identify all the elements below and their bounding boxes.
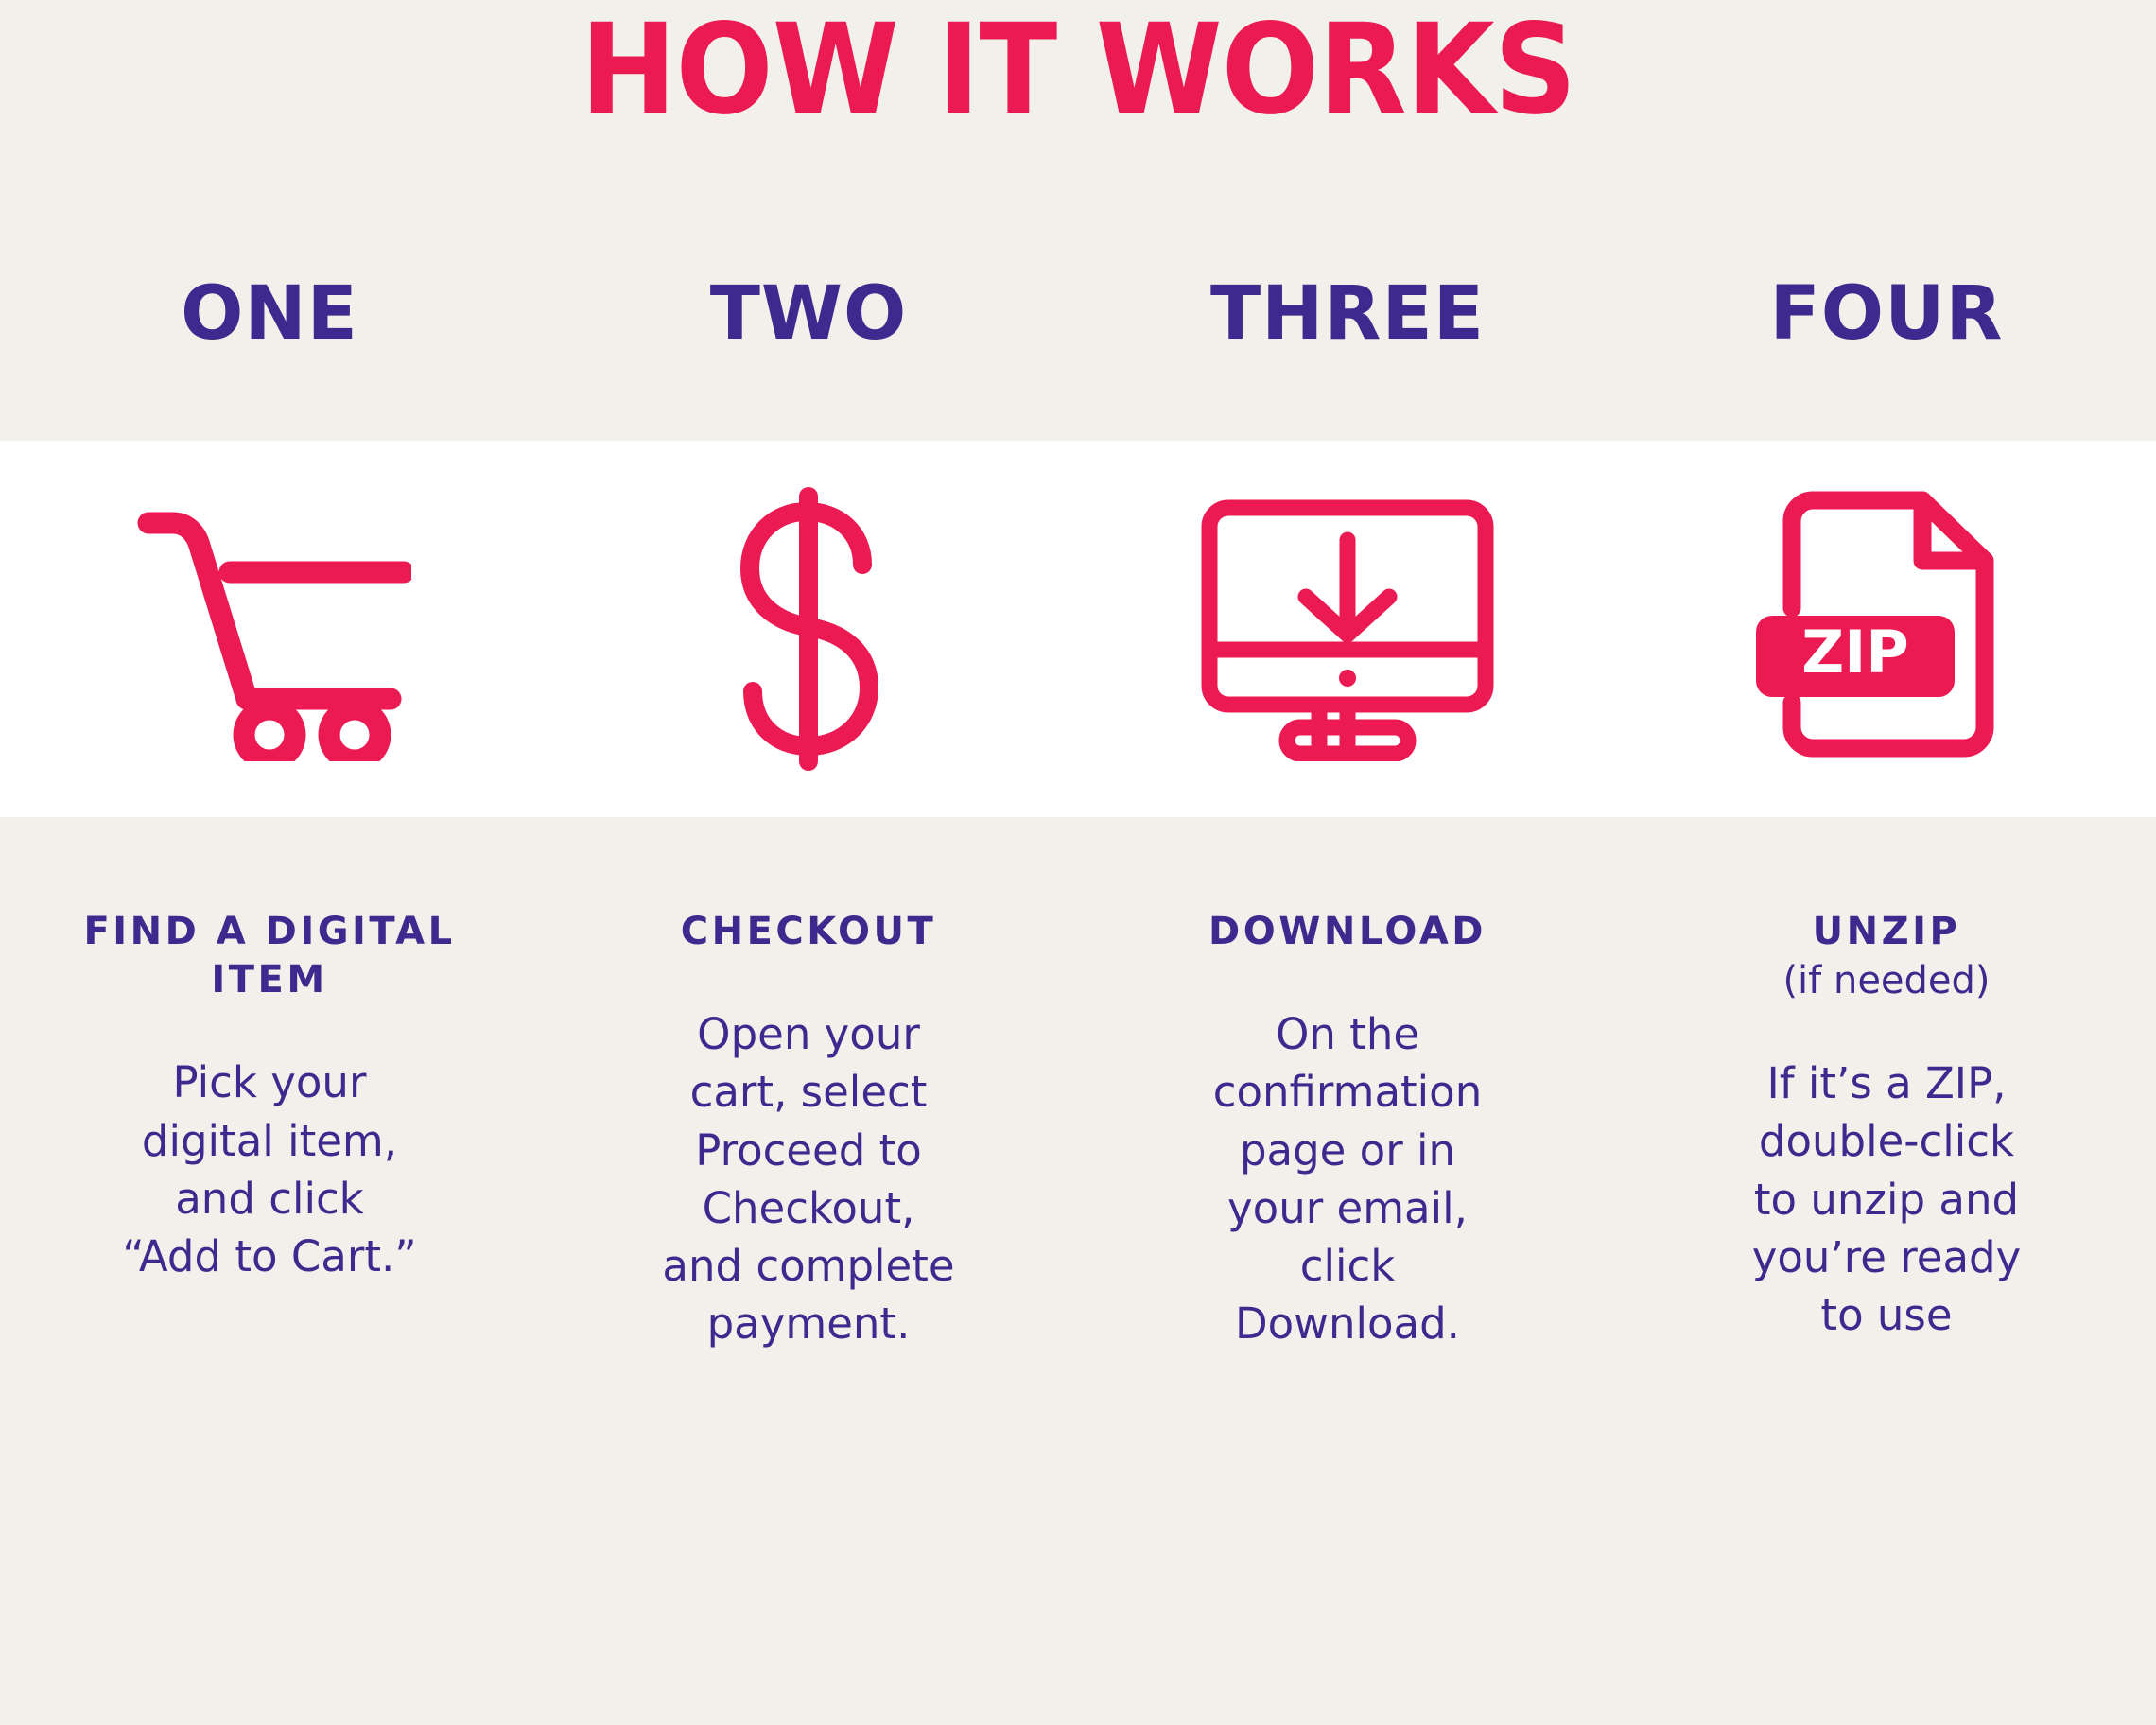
step-number-three: THREE xyxy=(1078,274,1617,356)
shopping-cart-icon xyxy=(128,497,411,761)
step-heading-three: DOWNLOAD xyxy=(1110,908,1585,956)
step-column-four: UNZIP (if needed) If it’s a ZIP, double-… xyxy=(1617,908,2156,1352)
icon-cell-three xyxy=(1078,441,1617,817)
step-body-three: On the confirmation page or in your emai… xyxy=(1110,1005,1585,1352)
step-body-two: Open your cart, select Proceed to Checko… xyxy=(571,1005,1046,1352)
icon-cell-two xyxy=(539,441,1078,817)
zip-file-icon: ZIP xyxy=(1754,487,2019,771)
step-descriptions-row: FIND A DIGITAL ITEM Pick your digital it… xyxy=(0,908,2156,1352)
dollar-sign-icon xyxy=(719,487,898,771)
step-number-cell-four: FOUR xyxy=(1617,274,2156,356)
icon-cell-four: ZIP xyxy=(1617,441,2156,817)
step-column-one: FIND A DIGITAL ITEM Pick your digital it… xyxy=(0,908,539,1352)
step-body-one: Pick your digital item, and click “Add t… xyxy=(32,1054,507,1285)
step-heading-one: FIND A DIGITAL ITEM xyxy=(32,908,507,1004)
step-number-cell-two: TWO xyxy=(539,274,1078,356)
step-number-cell-one: ONE xyxy=(0,274,539,356)
page-title: HOW IT WORKS xyxy=(581,8,1576,132)
step-column-three: DOWNLOAD On the confirmation page or in … xyxy=(1078,908,1617,1352)
step-numbers-row: ONE TWO THREE FOUR xyxy=(0,274,2156,356)
page-title-container: HOW IT WORKS xyxy=(0,8,2156,132)
step-heading-two: CHECKOUT xyxy=(571,908,1046,956)
step-subheading-four: (if needed) xyxy=(1649,956,2124,1005)
icon-cell-one xyxy=(0,441,539,817)
step-number-two: TWO xyxy=(539,274,1078,356)
infographic-page: HOW IT WORKS ONE TWO THREE FOUR xyxy=(0,0,2156,1725)
step-number-one: ONE xyxy=(0,274,539,356)
monitor-download-icon xyxy=(1196,497,1499,761)
icon-band: ZIP xyxy=(0,441,2156,817)
step-body-four: If it’s a ZIP, double-click to unzip and… xyxy=(1649,1054,2124,1344)
step-column-two: CHECKOUT Open your cart, select Proceed … xyxy=(539,908,1078,1352)
step-number-four: FOUR xyxy=(1617,274,2156,356)
zip-badge-label: ZIP xyxy=(1801,618,1908,687)
step-number-cell-three: THREE xyxy=(1078,274,1617,356)
step-heading-four: UNZIP xyxy=(1649,908,2124,956)
